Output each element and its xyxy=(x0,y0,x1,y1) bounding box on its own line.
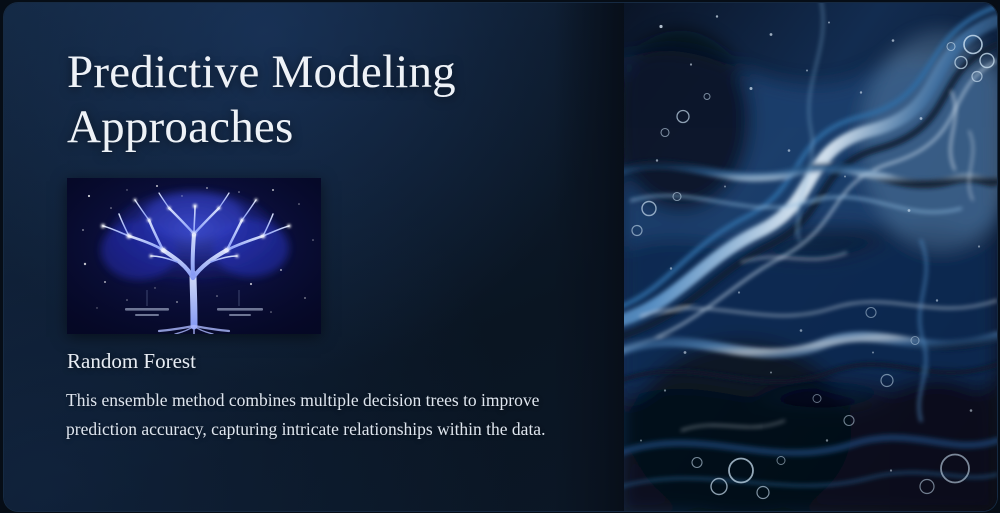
entry-description: This ensemble method combines multiple d… xyxy=(66,386,566,443)
slide-card: Predictive Modeling Approaches xyxy=(4,3,997,511)
page-title: Predictive Modeling Approaches xyxy=(67,45,567,155)
content-panel: Predictive Modeling Approaches xyxy=(4,3,624,511)
decorative-artwork-panel xyxy=(621,3,997,511)
marble-fluid-art-icon xyxy=(621,3,997,511)
decision-tree-icon xyxy=(67,178,321,334)
entry-heading: Random Forest xyxy=(67,349,196,374)
tree-thumbnail-image[interactable] xyxy=(67,178,321,334)
